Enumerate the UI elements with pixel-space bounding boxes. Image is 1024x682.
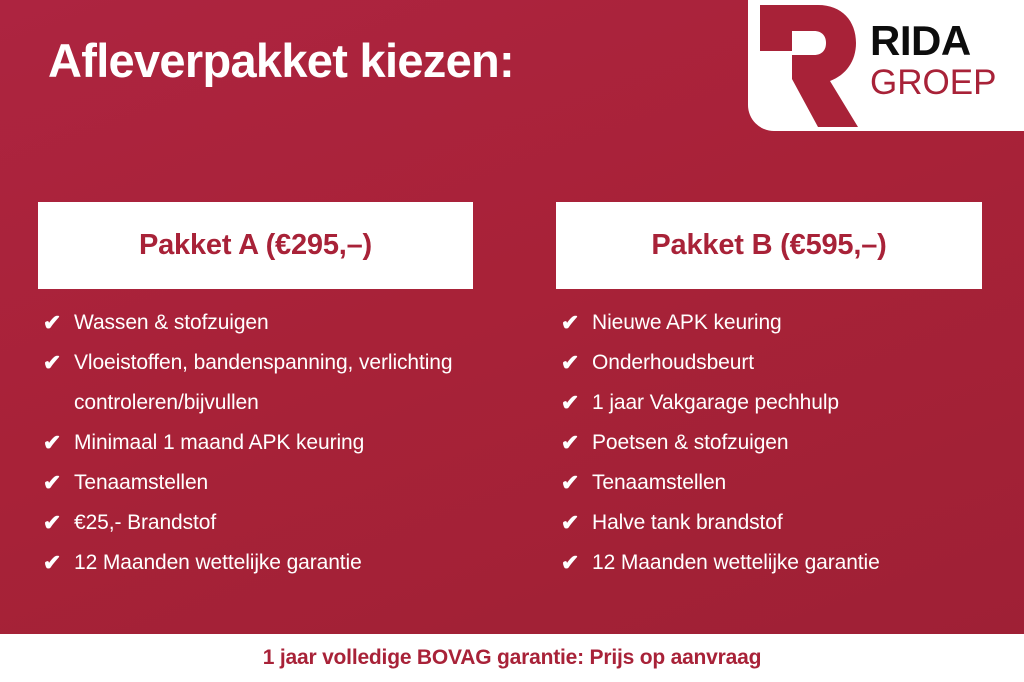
feature-label: 12 Maanden wettelijke garantie (74, 551, 362, 574)
brand-logo: RIDA GROEP (748, 0, 1024, 131)
brand-logo-panel: RIDA GROEP (748, 0, 1024, 131)
check-icon: ✔ (41, 423, 63, 463)
footer-guarantee-text: 1 jaar volledige BOVAG garantie: Prijs o… (263, 646, 761, 670)
package-b-title: Pakket B (€595,–) (651, 229, 886, 262)
brand-logo-wordmark: RIDA GROEP (870, 18, 1020, 102)
rida-r-icon (756, 3, 860, 129)
page-title: Afleverpakket kiezen: (48, 33, 514, 88)
list-item: ✔ Nieuwe APK keuring (556, 303, 982, 343)
feature-label: 12 Maanden wettelijke garantie (592, 551, 880, 574)
package-a-header: Pakket A (€295,–) (38, 202, 473, 289)
feature-label: Minimaal 1 maand APK keuring (74, 431, 364, 454)
list-item: ✔ Tenaamstellen (556, 463, 982, 503)
feature-label: Poetsen & stofzuigen (592, 431, 788, 454)
feature-label: Vloeistoffen, bandenspanning, verlichtin… (74, 351, 452, 414)
list-item: ✔ Tenaamstellen (38, 463, 473, 503)
list-item: ✔ 12 Maanden wettelijke garantie (38, 543, 473, 583)
check-icon: ✔ (559, 503, 581, 543)
list-item: ✔ 1 jaar Vakgarage pechhulp (556, 383, 982, 423)
package-a-title: Pakket A (€295,–) (139, 229, 372, 262)
list-item: ✔ Vloeistoffen, bandenspanning, verlicht… (38, 343, 473, 423)
footer-banner: 1 jaar volledige BOVAG garantie: Prijs o… (0, 634, 1024, 682)
check-icon: ✔ (559, 343, 581, 383)
list-item: ✔ Wassen & stofzuigen (38, 303, 473, 343)
brand-name-groep: GROEP (870, 64, 1020, 102)
check-icon: ✔ (41, 303, 63, 343)
list-item: ✔ €25,- Brandstof (38, 503, 473, 543)
list-item: ✔ Minimaal 1 maand APK keuring (38, 423, 473, 463)
brand-name-rida: RIDA (870, 18, 1020, 64)
check-icon: ✔ (41, 503, 63, 543)
feature-label: €25,- Brandstof (74, 511, 216, 534)
feature-label: Tenaamstellen (592, 471, 726, 494)
feature-label: Tenaamstellen (74, 471, 208, 494)
list-item: ✔ 12 Maanden wettelijke garantie (556, 543, 982, 583)
package-a-feature-list: ✔ Wassen & stofzuigen ✔ Vloeistoffen, ba… (38, 303, 473, 583)
feature-label: Halve tank brandstof (592, 511, 783, 534)
package-card-b[interactable]: Pakket B (€595,–) ✔ Nieuwe APK keuring ✔… (556, 202, 982, 583)
package-b-feature-list: ✔ Nieuwe APK keuring ✔ Onderhoudsbeurt ✔… (556, 303, 982, 583)
check-icon: ✔ (559, 303, 581, 343)
feature-label: 1 jaar Vakgarage pechhulp (592, 391, 839, 414)
check-icon: ✔ (559, 423, 581, 463)
list-item: ✔ Onderhoudsbeurt (556, 343, 982, 383)
check-icon: ✔ (559, 543, 581, 583)
list-item: ✔ Halve tank brandstof (556, 503, 982, 543)
check-icon: ✔ (41, 343, 63, 383)
check-icon: ✔ (559, 463, 581, 503)
check-icon: ✔ (41, 463, 63, 503)
feature-label: Nieuwe APK keuring (592, 311, 782, 334)
package-b-header: Pakket B (€595,–) (556, 202, 982, 289)
list-item: ✔ Poetsen & stofzuigen (556, 423, 982, 463)
package-card-a[interactable]: Pakket A (€295,–) ✔ Wassen & stofzuigen … (38, 202, 473, 583)
check-icon: ✔ (559, 383, 581, 423)
feature-label: Wassen & stofzuigen (74, 311, 269, 334)
feature-label: Onderhoudsbeurt (592, 351, 754, 374)
promo-poster: Afleverpakket kiezen: RIDA GROEP Pakket … (0, 0, 1024, 682)
check-icon: ✔ (41, 543, 63, 583)
